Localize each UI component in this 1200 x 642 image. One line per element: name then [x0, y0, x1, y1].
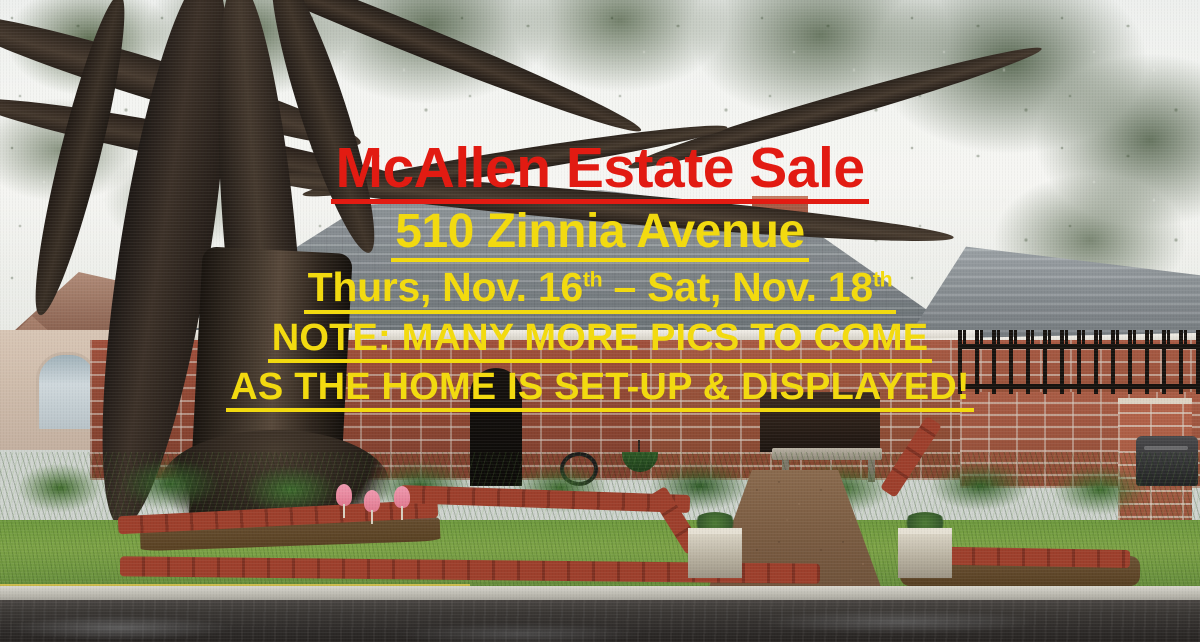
pink-flamingo-ornament: [394, 486, 410, 508]
neighbor-arched-window: [36, 352, 98, 432]
flamingo-leg: [401, 506, 403, 520]
house-photo-background: [0, 0, 1200, 642]
wet-street-reflection: [0, 600, 1200, 642]
pink-flamingo-ornament: [364, 490, 380, 512]
flamingo-leg: [343, 504, 345, 518]
stone-planter: [898, 528, 952, 578]
fence-rail-bottom: [958, 384, 1200, 389]
estate-sale-flyer: McAllen Estate Sale 510 Zinnia Avenue Th…: [0, 0, 1200, 642]
fence-rail-top: [958, 344, 1200, 349]
porch-recess: [760, 392, 880, 452]
fence-finials: [958, 330, 1200, 344]
pink-flamingo-ornament: [336, 484, 352, 506]
flamingo-leg: [371, 510, 373, 524]
stone-planter: [688, 528, 742, 578]
mailbox-slot: [1144, 446, 1188, 450]
